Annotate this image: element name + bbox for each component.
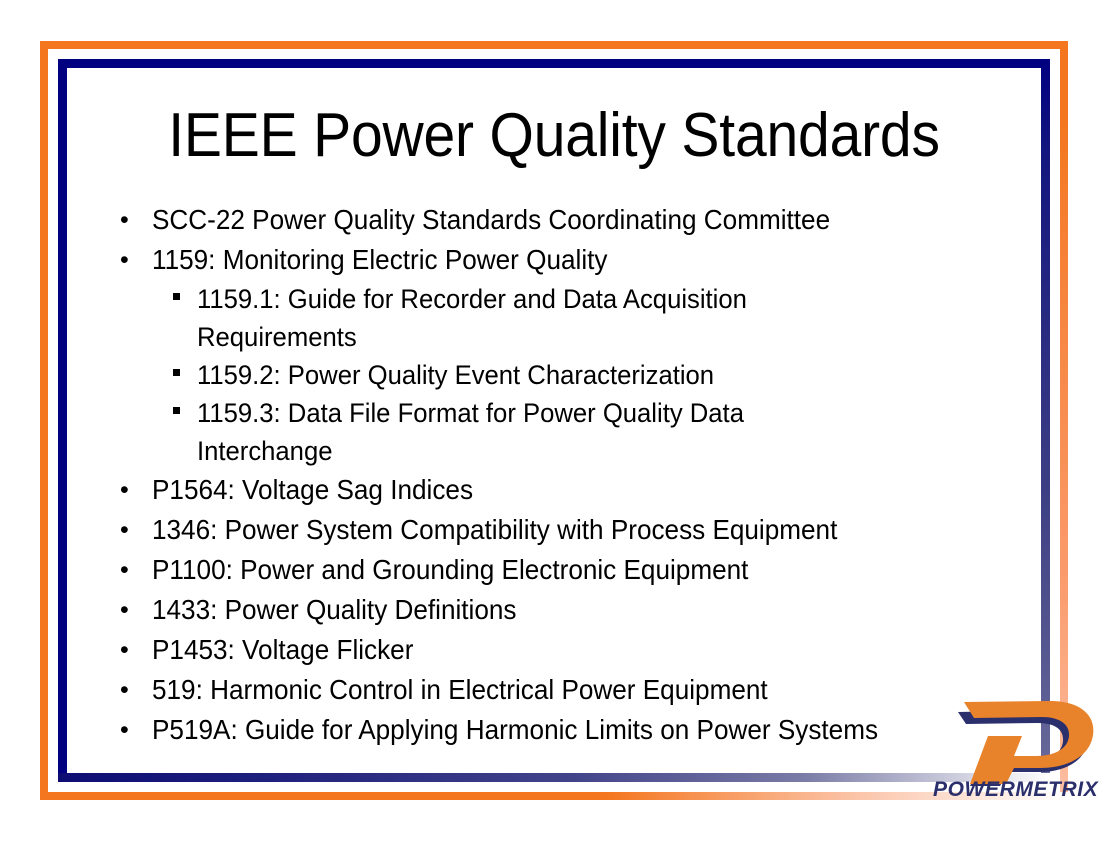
bullet-item: •1433: Power Quality Definitions (67, 590, 1041, 630)
bullet-text: 1159: Monitoring Electric Power Quality (152, 240, 607, 280)
round-bullet-icon: • (116, 590, 152, 630)
bullet-text: 1159.1: Guide for Recorder and Data Acqu… (197, 280, 824, 356)
sub-bullet-item: 1159.1: Guide for Recorder and Data Acqu… (67, 280, 1041, 356)
sub-bullet-item: 1159.3: Data File Format for Power Quali… (67, 394, 1041, 470)
bullet-text: P519A: Guide for Applying Harmonic Limit… (152, 710, 878, 750)
square-bullet-icon (171, 394, 197, 432)
round-bullet-icon: • (116, 630, 152, 670)
frame-outer-right-border (1060, 41, 1068, 800)
frame-inner-right-border (1041, 59, 1050, 782)
bullet-item: •P1100: Power and Grounding Electronic E… (67, 550, 1041, 590)
bullet-item: •P1453: Voltage Flicker (67, 630, 1041, 670)
round-bullet-icon: • (116, 200, 152, 240)
bullet-item: •P519A: Guide for Applying Harmonic Limi… (67, 710, 1041, 750)
frame-outer-left-border (40, 41, 48, 800)
bullet-item: •P1564: Voltage Sag Indices (67, 470, 1041, 510)
bullet-list: •SCC-22 Power Quality Standards Coordina… (67, 200, 1041, 750)
bullet-text: 1159.2: Power Quality Event Characteriza… (197, 356, 714, 394)
slide-title: IEEE Power Quality Standards (106, 100, 1002, 171)
square-bullet-icon (171, 356, 197, 394)
powermetrix-wordmark: POWERMETRIX (933, 778, 1098, 802)
frame-inner-bottom-border (58, 773, 1050, 782)
bullet-text: P1453: Voltage Flicker (152, 630, 413, 670)
bullet-item: •1346: Power System Compatibility with P… (67, 510, 1041, 550)
sub-bullet-item: 1159.2: Power Quality Event Characteriza… (67, 356, 1041, 394)
slide-content: IEEE Power Quality Standards •SCC-22 Pow… (67, 68, 1041, 773)
frame-inner-top-border (58, 59, 1050, 68)
square-bullet-icon (171, 280, 197, 318)
round-bullet-icon: • (116, 670, 152, 710)
round-bullet-icon: • (116, 550, 152, 590)
round-bullet-icon: • (116, 710, 152, 750)
frame-inner-left-border (58, 59, 67, 782)
powermetrix-mark-icon (930, 690, 1105, 790)
bullet-item: •1159: Monitoring Electric Power Quality (67, 240, 1041, 280)
bullet-text: P1100: Power and Grounding Electronic Eq… (152, 550, 748, 590)
slide: IEEE Power Quality Standards •SCC-22 Pow… (0, 0, 1109, 855)
bullet-text: P1564: Voltage Sag Indices (152, 470, 473, 510)
bullet-item: •SCC-22 Power Quality Standards Coordina… (67, 200, 1041, 240)
round-bullet-icon: • (116, 470, 152, 510)
bullet-text: 1159.3: Data File Format for Power Quali… (197, 394, 824, 470)
bullet-text: 519: Harmonic Control in Electrical Powe… (152, 670, 768, 710)
bullet-text: SCC-22 Power Quality Standards Coordinat… (152, 200, 830, 240)
bullet-item: •519: Harmonic Control in Electrical Pow… (67, 670, 1041, 710)
bullet-text: 1346: Power System Compatibility with Pr… (152, 510, 837, 550)
powermetrix-logo: POWERMETRIX (930, 690, 1105, 815)
round-bullet-icon: • (116, 510, 152, 550)
frame-outer-top-border (40, 41, 1068, 49)
frame-outer-bottom-border (40, 792, 1068, 800)
bullet-text: 1433: Power Quality Definitions (152, 590, 516, 630)
round-bullet-icon: • (116, 240, 152, 280)
